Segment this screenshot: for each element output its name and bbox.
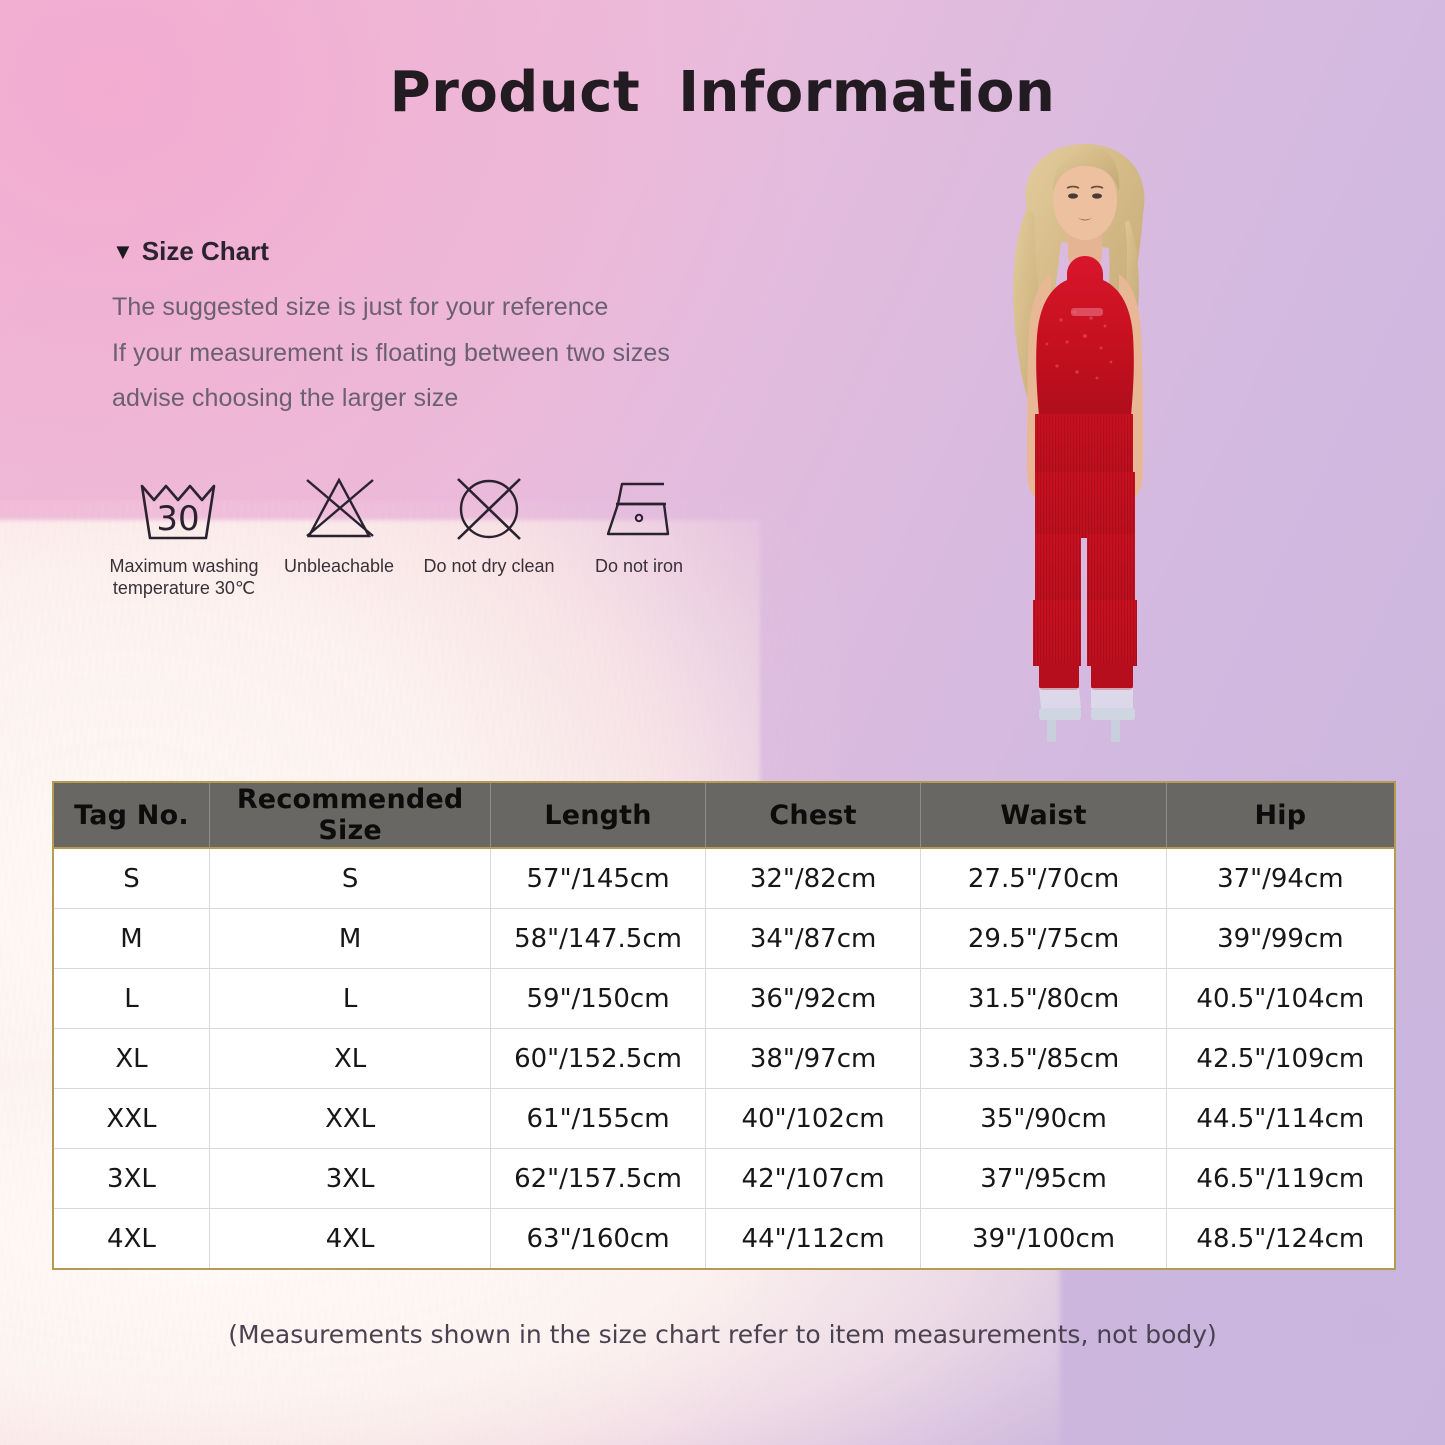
no-bleach-triangle-icon [295, 470, 383, 548]
care-label-dry-clean: Do not dry clean [423, 556, 554, 578]
cell-waist: 33.5"/85cm [921, 1029, 1166, 1089]
column-header-length: Length [491, 783, 705, 848]
cell-hip: 37"/94cm [1166, 848, 1394, 909]
measurement-disclaimer: (Measurements shown in the size chart re… [0, 1320, 1445, 1349]
cell-waist: 39"/100cm [921, 1209, 1166, 1269]
cell-recommended-size: S [209, 848, 490, 909]
care-label-bleach: Unbleachable [284, 556, 394, 578]
cell-tag-no: M [54, 909, 209, 969]
svg-text:30: 30 [156, 499, 199, 539]
cell-tag-no: 4XL [54, 1209, 209, 1269]
cell-length: 61"/155cm [491, 1089, 705, 1149]
size-chart-heading: ▼ Size Chart [112, 236, 832, 267]
column-header-chest: Chest [705, 783, 921, 848]
cell-waist: 37"/95cm [921, 1149, 1166, 1209]
page-title: Product Information [0, 60, 1445, 125]
table-row: 3XL 3XL 62"/157.5cm 42"/107cm 37"/95cm 4… [54, 1149, 1394, 1209]
care-item-dry-clean: Do not dry clean [414, 470, 564, 578]
size-chart-table: Tag No. Recommended Size Length Chest Wa… [54, 783, 1394, 1268]
cell-tag-no: S [54, 848, 209, 909]
cell-recommended-size: XL [209, 1029, 490, 1089]
model-photo [935, 130, 1235, 750]
cell-recommended-size: 4XL [209, 1209, 490, 1269]
cell-hip: 48.5"/124cm [1166, 1209, 1394, 1269]
cell-length: 59"/150cm [491, 969, 705, 1029]
cell-waist: 29.5"/75cm [921, 909, 1166, 969]
table-header-row: Tag No. Recommended Size Length Chest Wa… [54, 783, 1394, 848]
size-chart-table-container: Tag No. Recommended Size Length Chest Wa… [52, 781, 1396, 1270]
table-row: XXL XXL 61"/155cm 40"/102cm 35"/90cm 44.… [54, 1089, 1394, 1149]
wash-tub-30-icon: 30 [134, 470, 234, 548]
cell-length: 60"/152.5cm [491, 1029, 705, 1089]
triangle-down-icon: ▼ [112, 241, 134, 263]
cell-waist: 27.5"/70cm [921, 848, 1166, 909]
cell-waist: 35"/90cm [921, 1089, 1166, 1149]
size-note-line-3: advise choosing the larger size [112, 376, 832, 422]
cell-chest: 38"/97cm [705, 1029, 921, 1089]
table-row: XL XL 60"/152.5cm 38"/97cm 33.5"/85cm 42… [54, 1029, 1394, 1089]
cell-length: 57"/145cm [491, 848, 705, 909]
care-label-iron: Do not iron [595, 556, 683, 578]
care-label-washing: Maximum washing temperature 30℃ [109, 556, 258, 600]
cell-tag-no: 3XL [54, 1149, 209, 1209]
care-item-bleach: Unbleachable [264, 470, 414, 578]
cell-tag-no: L [54, 969, 209, 1029]
table-row: 4XL 4XL 63"/160cm 44"/112cm 39"/100cm 48… [54, 1209, 1394, 1269]
care-item-washing: 30 Maximum washing temperature 30℃ [104, 470, 264, 600]
cell-chest: 42"/107cm [705, 1149, 921, 1209]
size-note-line-1: The suggested size is just for your refe… [112, 285, 832, 331]
column-header-recommended-size: Recommended Size [209, 783, 490, 848]
cell-length: 62"/157.5cm [491, 1149, 705, 1209]
care-item-iron: Do not iron [564, 470, 714, 578]
cell-tag-no: XXL [54, 1089, 209, 1149]
size-note-line-2: If your measurement is floating between … [112, 331, 832, 377]
cell-chest: 40"/102cm [705, 1089, 921, 1149]
cell-hip: 44.5"/114cm [1166, 1089, 1394, 1149]
cell-hip: 39"/99cm [1166, 909, 1394, 969]
column-header-hip: Hip [1166, 783, 1394, 848]
cell-recommended-size: M [209, 909, 490, 969]
table-row: M M 58"/147.5cm 34"/87cm 29.5"/75cm 39"/… [54, 909, 1394, 969]
cell-hip: 42.5"/109cm [1166, 1029, 1394, 1089]
cell-length: 58"/147.5cm [491, 909, 705, 969]
cell-recommended-size: 3XL [209, 1149, 490, 1209]
cell-waist: 31.5"/80cm [921, 969, 1166, 1029]
size-chart-heading-label: Size Chart [142, 236, 269, 267]
cell-length: 63"/160cm [491, 1209, 705, 1269]
cell-chest: 36"/92cm [705, 969, 921, 1029]
no-iron-icon [594, 470, 684, 548]
cell-chest: 44"/112cm [705, 1209, 921, 1269]
cell-tag-no: XL [54, 1029, 209, 1089]
product-information-page: Product Information ▼ Size Chart The sug… [0, 0, 1445, 1445]
cell-hip: 46.5"/119cm [1166, 1149, 1394, 1209]
cell-recommended-size: L [209, 969, 490, 1029]
table-row: L L 59"/150cm 36"/92cm 31.5"/80cm 40.5"/… [54, 969, 1394, 1029]
care-instructions-row: 30 Maximum washing temperature 30℃ Unble… [104, 470, 714, 600]
cell-hip: 40.5"/104cm [1166, 969, 1394, 1029]
column-header-waist: Waist [921, 783, 1166, 848]
cell-recommended-size: XXL [209, 1089, 490, 1149]
cell-chest: 34"/87cm [705, 909, 921, 969]
cell-chest: 32"/82cm [705, 848, 921, 909]
size-chart-section: ▼ Size Chart The suggested size is just … [112, 236, 832, 422]
no-dry-clean-circle-icon [446, 470, 532, 548]
column-header-tag-no: Tag No. [54, 783, 209, 848]
table-row: S S 57"/145cm 32"/82cm 27.5"/70cm 37"/94… [54, 848, 1394, 909]
